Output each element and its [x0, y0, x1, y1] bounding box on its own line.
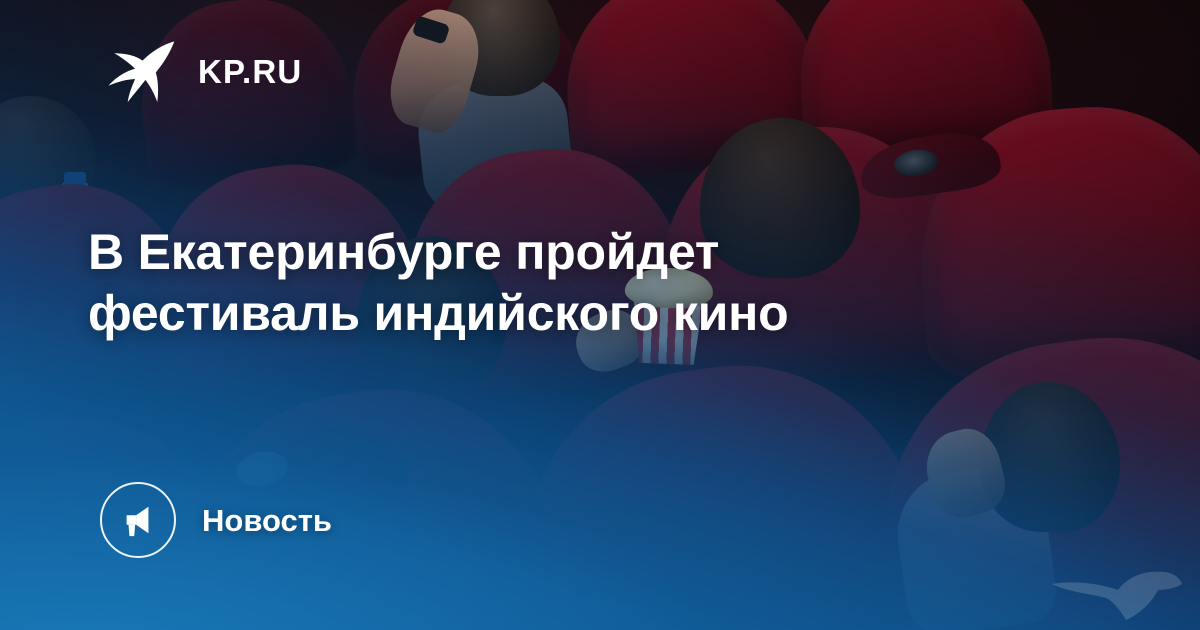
brand-lockup[interactable]: KP.RU	[104, 34, 302, 108]
swallow-bird-icon	[104, 34, 178, 108]
status-badge-label: Новость	[202, 505, 332, 536]
status-badge[interactable]: Новость	[100, 482, 332, 558]
social-share-card: KP.RU В Екатеринбурге пройдет фестиваль …	[0, 0, 1200, 630]
megaphone-icon	[100, 482, 176, 558]
page-title: В Екатеринбурге пройдет фестиваль индийс…	[88, 222, 968, 344]
brand-name: KP.RU	[198, 55, 302, 88]
card-content: KP.RU В Екатеринбурге пройдет фестиваль …	[0, 0, 1200, 630]
